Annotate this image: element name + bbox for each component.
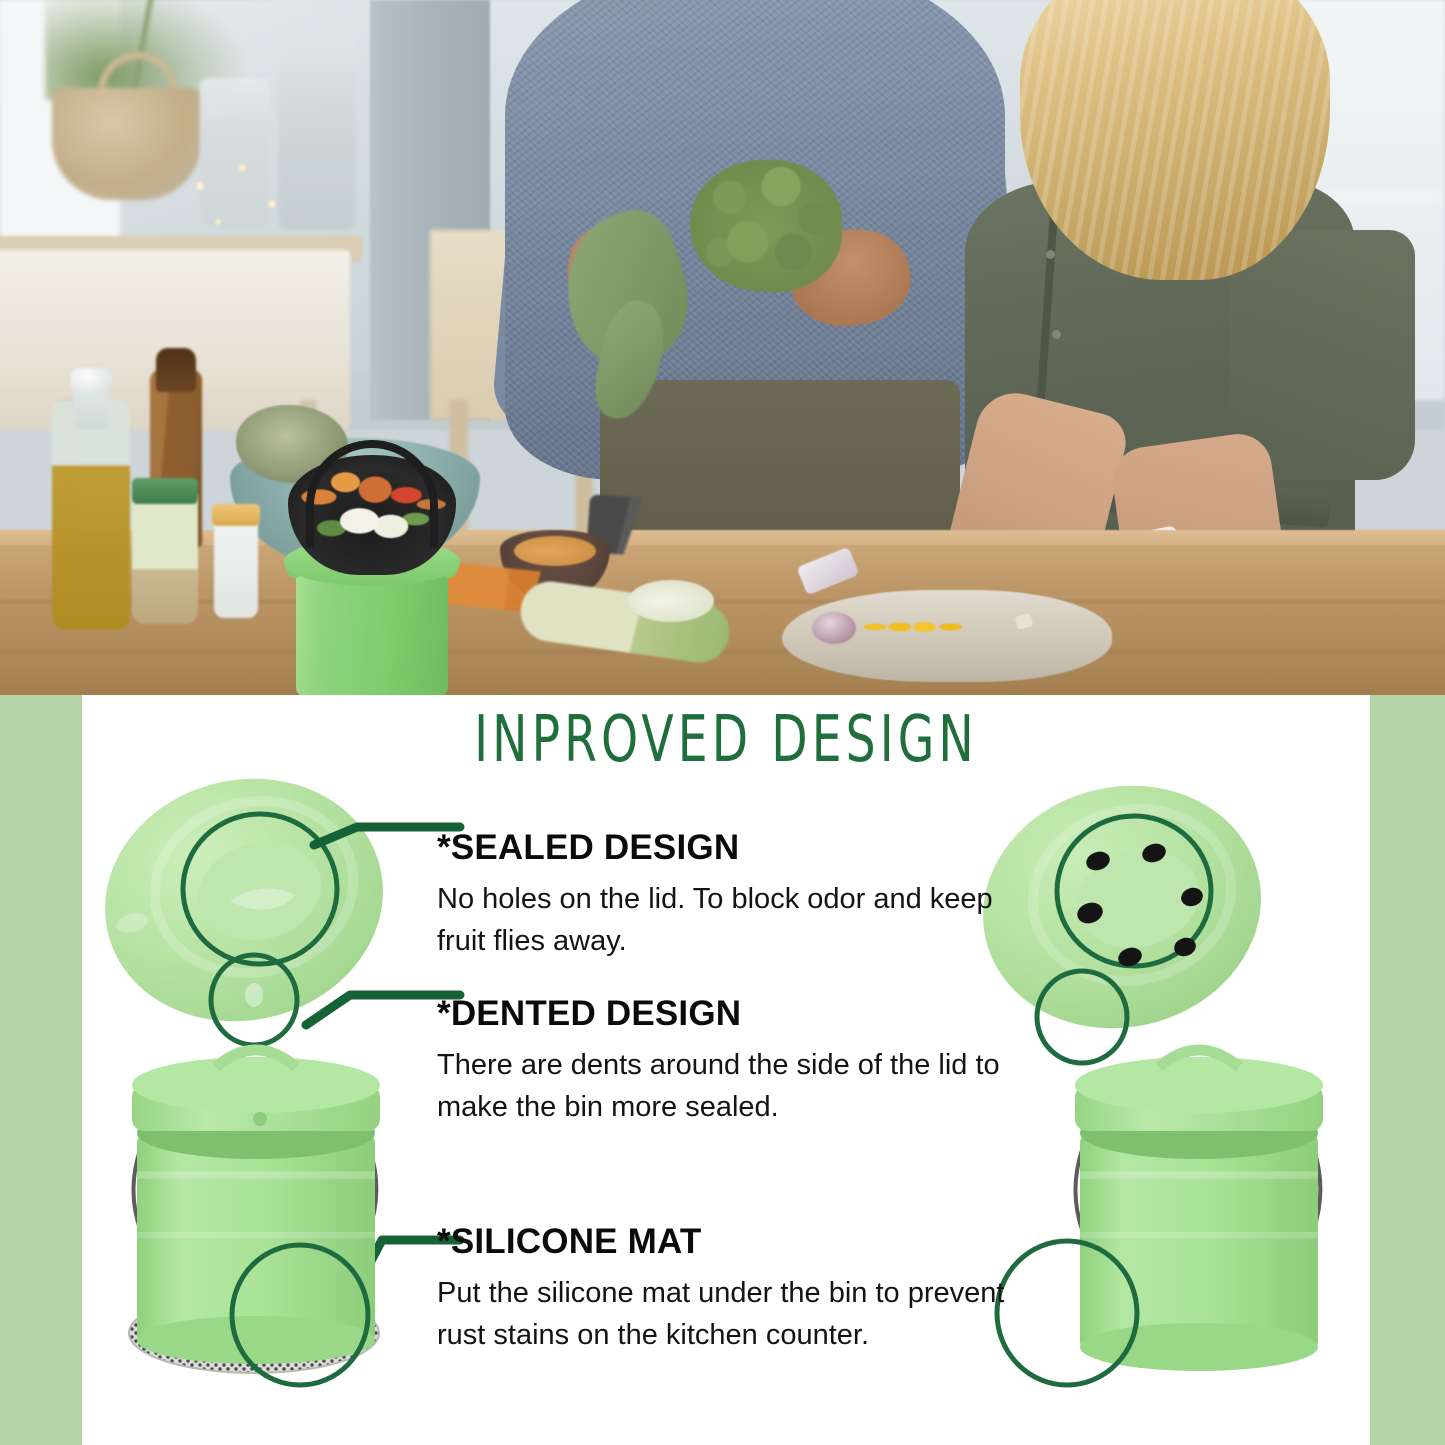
photo-spice-jar-cap [132, 478, 198, 504]
feature-block-dented: *DENTED DESIGN There are dents around th… [437, 995, 1047, 1128]
feature-heading-sealed: *SEALED DESIGN [437, 829, 1047, 867]
feature-heading-dented: *DENTED DESIGN [437, 995, 1047, 1033]
bin-with-mat-illustration [129, 1050, 380, 1385]
photo-olive-oil-bottle [52, 400, 130, 630]
infographic-page: INPROVED DESIGN [0, 0, 1445, 1445]
feature-block-sealed: *SEALED DESIGN No holes on the lid. To b… [437, 829, 1047, 962]
green-frame: INPROVED DESIGN [0, 695, 1445, 1445]
feature-block-silicone: *SILICONE MAT Put the silicone mat under… [437, 1223, 1047, 1356]
photo-broccoli [690, 160, 842, 292]
photo-utensils [586, 494, 760, 564]
photo-bell-pepper-slices [862, 600, 970, 654]
white-panel: INPROVED DESIGN [82, 695, 1370, 1445]
solid-lid-illustration [82, 750, 409, 1051]
photo-olive-oil-cap [70, 368, 112, 394]
photo-pepper-mill-top [156, 348, 196, 392]
photo-onion [812, 612, 856, 644]
feature-body-dented: There are dents around the side of the l… [437, 1045, 1047, 1129]
feature-heading-silicone: *SILICONE MAT [437, 1223, 1047, 1261]
photo-spice-jar [132, 492, 198, 624]
photo-woman-button-2 [1052, 330, 1061, 339]
photo-salt-shaker [214, 518, 258, 618]
feature-body-silicone: Put the silicone mat under the bin to pr… [437, 1273, 1047, 1357]
photo-salt-shaker-cap [212, 504, 260, 526]
feature-body-sealed: No holes on the lid. To block odor and k… [437, 879, 1047, 963]
photo-leek-bulb [628, 580, 714, 622]
photo-woman-button-1 [1046, 250, 1055, 259]
photo-string-lights [176, 150, 296, 240]
bin-body [137, 1133, 375, 1345]
lifestyle-photo [0, 0, 1445, 695]
photo-brown-bowl-contents [514, 536, 596, 566]
